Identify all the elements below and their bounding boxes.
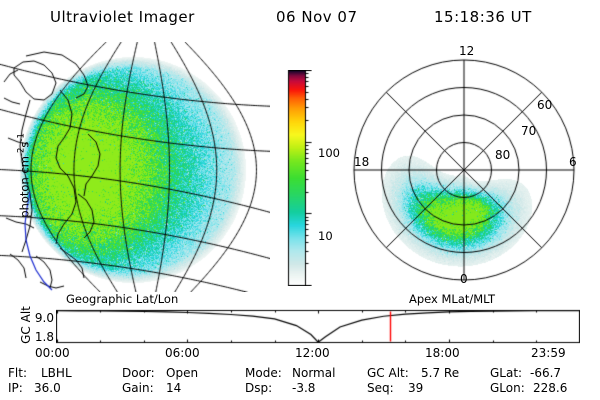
status-glon-value: 228.6 xyxy=(533,381,567,395)
colorbar-label-exp2: -1 xyxy=(17,133,27,141)
mlat-ring-label-80: 80 xyxy=(495,148,510,162)
status-glat-label: GLat: xyxy=(490,366,522,380)
orbit-x-tick-3: 18:00 xyxy=(425,346,460,360)
status-gcalt-value: 5.7 Re xyxy=(421,366,459,380)
orbit-altitude-plot xyxy=(56,306,580,350)
uvi-screenshot: Ultraviolet Imager 06 Nov 07 15:18:36 UT… xyxy=(0,0,600,400)
status-glon-label: GLon: xyxy=(490,381,525,395)
colorbar-tick-10: 10 xyxy=(318,229,333,243)
colorbar-axis-label: photon cm-2s-1 xyxy=(17,105,32,245)
colorbar xyxy=(286,70,312,286)
orbit-x-tick-4: 23:59 xyxy=(531,346,566,360)
status-gain-value: 14 xyxy=(166,381,181,395)
orbit-y-tick-low: 1.8 xyxy=(20,330,54,344)
orbit-plot-y-label: GC Alt xyxy=(19,295,33,355)
status-dsp-value: -3.8 xyxy=(292,381,315,395)
status-gcalt-label: GC Alt: xyxy=(367,366,409,380)
observation-date: 06 Nov 07 xyxy=(276,8,358,26)
status-door-label: Door: xyxy=(122,366,155,380)
mlt-label-12: 12 xyxy=(459,44,474,58)
status-ip-value: 36.0 xyxy=(34,381,61,395)
status-mode-label: Mode: xyxy=(245,366,282,380)
colorbar-label-exp1: -2 xyxy=(17,148,27,156)
status-dsp-label: Dsp: xyxy=(245,381,272,395)
geographic-aurora-image xyxy=(0,42,270,292)
mlat-ring-label-60: 60 xyxy=(537,98,552,112)
mlt-label-0: 0 xyxy=(460,272,468,286)
orbit-y-tick-high: 9.0 xyxy=(20,311,54,325)
status-door-value: Open xyxy=(166,366,198,380)
status-glat-value: -66.7 xyxy=(530,366,561,380)
orbit-x-tick-2: 12:00 xyxy=(295,346,330,360)
status-flt-label: Flt: xyxy=(8,366,27,380)
right-panel-caption: Apex MLat/MLT xyxy=(409,292,495,306)
colorbar-label-mid: s xyxy=(17,142,31,148)
left-panel-caption: Geographic Lat/Lon xyxy=(66,292,178,306)
mlat-ring-label-70: 70 xyxy=(521,124,536,138)
status-seq-label: Seq: xyxy=(367,381,394,395)
colorbar-label-main: photon cm xyxy=(17,156,31,218)
observation-time: 15:18:36 UT xyxy=(434,8,532,26)
status-flt-value: LBHL xyxy=(41,366,72,380)
orbit-x-tick-0: 00:00 xyxy=(35,346,70,360)
status-gain-label: Gain: xyxy=(122,381,154,395)
status-mode-value: Normal xyxy=(292,366,335,380)
apex-mlat-mlt-polar-plot xyxy=(345,42,595,292)
colorbar-tick-100: 100 xyxy=(318,146,340,160)
status-seq-value: 39 xyxy=(408,381,423,395)
mlt-label-6: 6 xyxy=(569,155,577,169)
mlt-label-18: 18 xyxy=(354,155,369,169)
orbit-x-tick-1: 06:00 xyxy=(165,346,200,360)
status-ip-label: IP: xyxy=(8,381,23,395)
page-title: Ultraviolet Imager xyxy=(50,8,195,26)
